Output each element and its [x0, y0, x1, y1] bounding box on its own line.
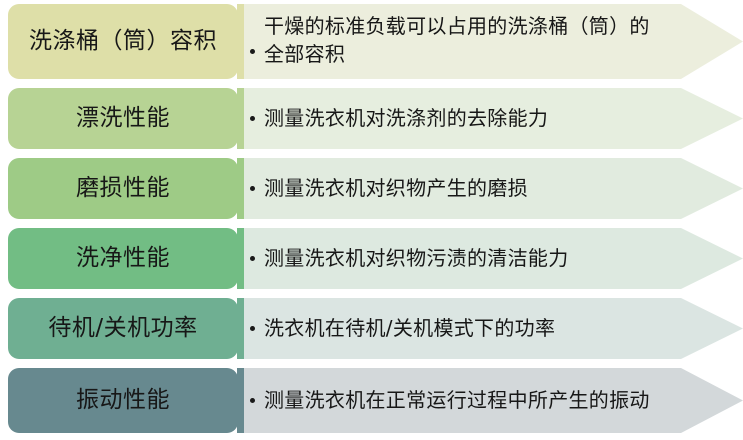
description-content: 测量洗衣机对织物污渍的清洁能力	[237, 228, 743, 289]
category-label-standby-off-power[interactable]: 待机/关机功率	[8, 298, 238, 359]
description-text: 测量洗衣机对织物产生的磨损	[264, 174, 528, 202]
description-content: 干燥的标准负载可以占用的洗涤桶（筒）的全部容积	[237, 4, 743, 79]
diagram-row: 洗涤桶（筒）容积干燥的标准负载可以占用的洗涤桶（筒）的全部容积	[0, 0, 743, 84]
bullet-point-icon	[250, 49, 255, 54]
bullet-point-icon	[250, 256, 255, 261]
category-label-text: 待机/关机功率	[48, 316, 197, 341]
category-label-text: 洗涤桶（筒）容积	[29, 29, 217, 54]
category-label-vibration-performance[interactable]: 振动性能	[8, 368, 238, 433]
description-arrow-cleaning-performance[interactable]: 测量洗衣机对织物污渍的清洁能力	[237, 228, 743, 289]
category-label-wash-drum-capacity[interactable]: 洗涤桶（筒）容积	[8, 4, 238, 79]
category-label-rinse-performance[interactable]: 漂洗性能	[8, 88, 238, 149]
description-content: 测量洗衣机对洗涤剂的去除能力	[237, 88, 743, 149]
diagram-row: 振动性能测量洗衣机在正常运行过程中所产生的振动	[0, 364, 743, 438]
bullet-point-icon	[250, 186, 255, 191]
category-label-text: 磨损性能	[76, 176, 170, 201]
category-label-text: 振动性能	[76, 388, 170, 413]
description-text: 测量洗衣机对织物污渍的清洁能力	[264, 244, 569, 272]
diagram-row: 磨损性能测量洗衣机对织物产生的磨损	[0, 154, 743, 224]
bullet-point-icon	[250, 326, 255, 331]
description-text: 测量洗衣机对洗涤剂的去除能力	[264, 104, 548, 132]
bullet-point-icon	[250, 116, 255, 121]
description-arrow-wear-performance[interactable]: 测量洗衣机对织物产生的磨损	[237, 158, 743, 219]
description-text: 洗衣机在待机/关机模式下的功率	[264, 314, 555, 342]
description-arrow-vibration-performance[interactable]: 测量洗衣机在正常运行过程中所产生的振动	[237, 368, 743, 433]
description-arrow-rinse-performance[interactable]: 测量洗衣机对洗涤剂的去除能力	[237, 88, 743, 149]
category-label-text: 漂洗性能	[76, 106, 170, 131]
description-content: 测量洗衣机对织物产生的磨损	[237, 158, 743, 219]
category-label-cleaning-performance[interactable]: 洗净性能	[8, 228, 238, 289]
description-content: 测量洗衣机在正常运行过程中所产生的振动	[237, 368, 743, 433]
category-label-text: 洗净性能	[76, 246, 170, 271]
diagram-row: 洗净性能测量洗衣机对织物污渍的清洁能力	[0, 224, 743, 294]
diagram-row: 漂洗性能测量洗衣机对洗涤剂的去除能力	[0, 84, 743, 154]
description-text: 测量洗衣机在正常运行过程中所产生的振动	[264, 386, 650, 414]
description-arrow-wash-drum-capacity[interactable]: 干燥的标准负载可以占用的洗涤桶（筒）的全部容积	[237, 4, 743, 79]
diagram-row: 待机/关机功率洗衣机在待机/关机模式下的功率	[0, 294, 743, 364]
bullet-point-icon	[250, 398, 255, 403]
description-content: 洗衣机在待机/关机模式下的功率	[237, 298, 743, 359]
category-label-wear-performance[interactable]: 磨损性能	[8, 158, 238, 219]
description-text: 干燥的标准负载可以占用的洗涤桶（筒）的全部容积	[264, 12, 657, 69]
chevron-list-diagram: 洗涤桶（筒）容积干燥的标准负载可以占用的洗涤桶（筒）的全部容积漂洗性能测量洗衣机…	[0, 0, 743, 440]
description-arrow-standby-off-power[interactable]: 洗衣机在待机/关机模式下的功率	[237, 298, 743, 359]
